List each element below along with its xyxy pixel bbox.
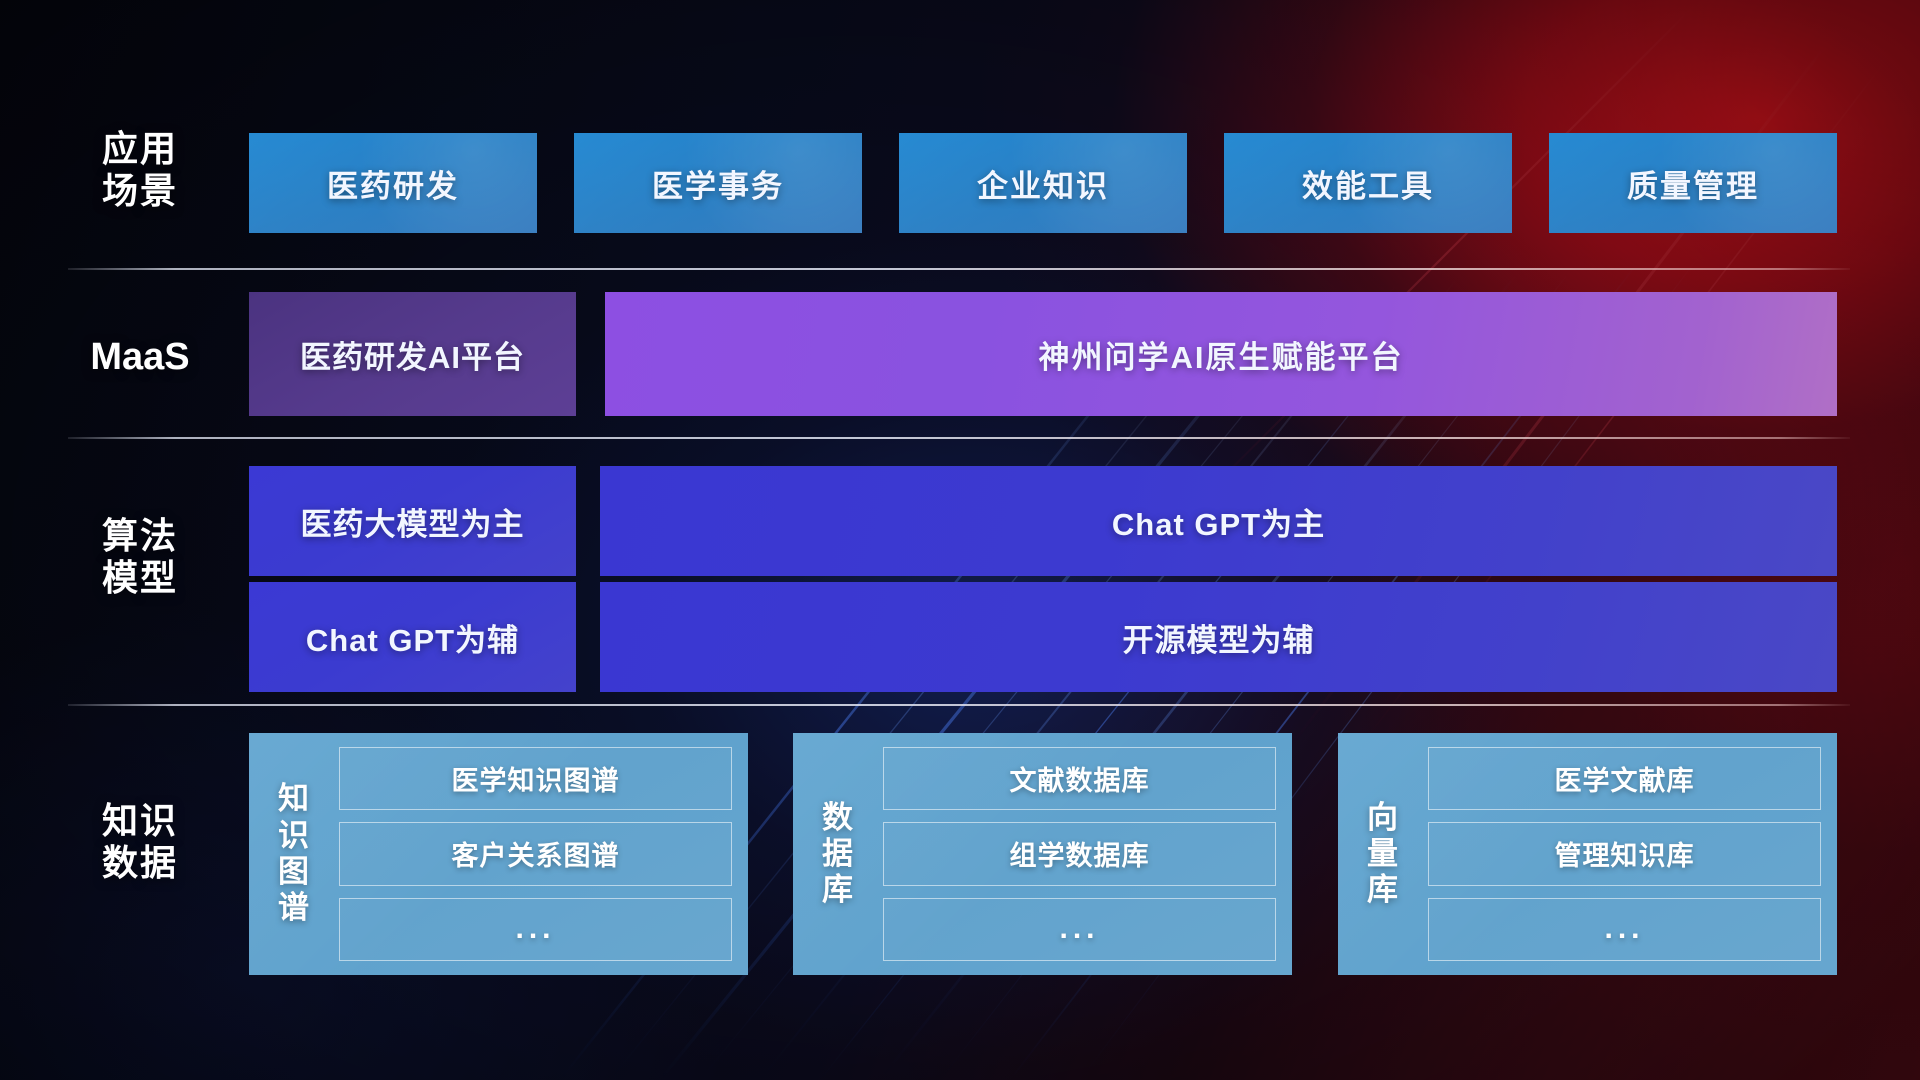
knowledge-group-2-items: 文献数据库 组学数据库 ... [883,747,1276,961]
app-box-5-label: 质量管理 [1627,161,1759,206]
knowledge-group-2-char-2: 据 [822,836,854,872]
knowledge-item-label: 组学数据库 [1010,834,1150,873]
knowledge-item-label: ... [1059,912,1099,946]
knowledge-group-1-items: 医学知识图谱 客户关系图谱 ... [339,747,732,961]
knowledge-item-more[interactable]: ... [883,898,1276,961]
maas-right-label: 神州问学AI原生赋能平台 [1039,332,1404,377]
app-box-3[interactable]: 企业知识 [899,133,1187,233]
knowledge-group-3[interactable]: 向 量 库 医学文献库 管理知识库 ... [1338,733,1837,975]
knowledge-group-2-char-3: 库 [822,872,854,908]
row-label-maas: MaaS [60,335,220,379]
row-label-knowledge: 知识 数据 [60,800,220,884]
app-box-2-label: 医学事务 [652,161,784,206]
knowledge-item[interactable]: 客户关系图谱 [339,822,732,885]
knowledge-group-1[interactable]: 知 识 图 谱 医学知识图谱 客户关系图谱 ... [249,733,748,975]
knowledge-item-label: 医学文献库 [1555,759,1695,798]
algo-right-box-2-label: 开源模型为辅 [1123,615,1315,660]
app-box-5[interactable]: 质量管理 [1549,133,1837,233]
divider-application-maas [68,268,1850,270]
maas-left-label: 医药研发AI平台 [300,332,525,377]
knowledge-item-label: 客户关系图谱 [452,834,620,873]
app-box-1[interactable]: 医药研发 [249,133,537,233]
divider-maas-algorithm [68,437,1850,439]
knowledge-item-label: 文献数据库 [1010,759,1150,798]
algo-right-box-1[interactable]: Chat GPT为主 [600,466,1837,576]
knowledge-item[interactable]: 医学文献库 [1428,747,1821,810]
knowledge-item-more[interactable]: ... [1428,898,1821,961]
app-box-1-label: 医药研发 [327,161,459,206]
knowledge-group-1-char-2: 识 [278,818,310,854]
knowledge-item-label: 医学知识图谱 [452,759,620,798]
row-label-application: 应用 场景 [60,128,220,212]
algo-left-box-1[interactable]: 医药大模型为主 [249,466,576,576]
knowledge-group-3-char-2: 量 [1367,836,1399,872]
knowledge-group-3-items: 医学文献库 管理知识库 ... [1428,747,1821,961]
knowledge-item-label: 管理知识库 [1555,834,1695,873]
knowledge-item-label: ... [1604,912,1644,946]
knowledge-item[interactable]: 组学数据库 [883,822,1276,885]
algo-left-box-2-label: Chat GPT为辅 [306,615,519,660]
algo-left-box-1-label: 医药大模型为主 [301,499,525,544]
knowledge-item[interactable]: 管理知识库 [1428,822,1821,885]
knowledge-item[interactable]: 文献数据库 [883,747,1276,810]
diagram-canvas: 应用 场景 医药研发 医学事务 企业知识 效能工具 质量管理 MaaS 医药研发… [0,0,1920,1080]
knowledge-group-1-char-3: 图 [278,854,310,890]
knowledge-item-more[interactable]: ... [339,898,732,961]
maas-left-box[interactable]: 医药研发AI平台 [249,292,576,416]
row-label-algorithm: 算法 模型 [60,515,220,599]
app-box-4[interactable]: 效能工具 [1224,133,1512,233]
algo-left-box-2[interactable]: Chat GPT为辅 [249,582,576,692]
knowledge-item-label: ... [515,912,555,946]
algo-right-box-2[interactable]: 开源模型为辅 [600,582,1837,692]
knowledge-group-3-char-3: 库 [1367,872,1399,908]
knowledge-group-2[interactable]: 数 据 库 文献数据库 组学数据库 ... [793,733,1292,975]
knowledge-group-2-char-1: 数 [822,800,854,836]
knowledge-group-1-char-4: 谱 [278,890,310,926]
app-box-2[interactable]: 医学事务 [574,133,862,233]
knowledge-group-1-char-1: 知 [278,781,310,817]
knowledge-group-3-char-1: 向 [1367,800,1399,836]
knowledge-group-1-title: 知 识 图 谱 [263,747,325,961]
app-box-3-label: 企业知识 [977,161,1109,206]
knowledge-group-2-title: 数 据 库 [807,747,869,961]
divider-algorithm-knowledge [68,704,1850,706]
maas-right-box[interactable]: 神州问学AI原生赋能平台 [605,292,1837,416]
algo-right-box-1-label: Chat GPT为主 [1112,499,1325,544]
knowledge-group-3-title: 向 量 库 [1352,747,1414,961]
knowledge-item[interactable]: 医学知识图谱 [339,747,732,810]
app-box-4-label: 效能工具 [1302,161,1434,206]
